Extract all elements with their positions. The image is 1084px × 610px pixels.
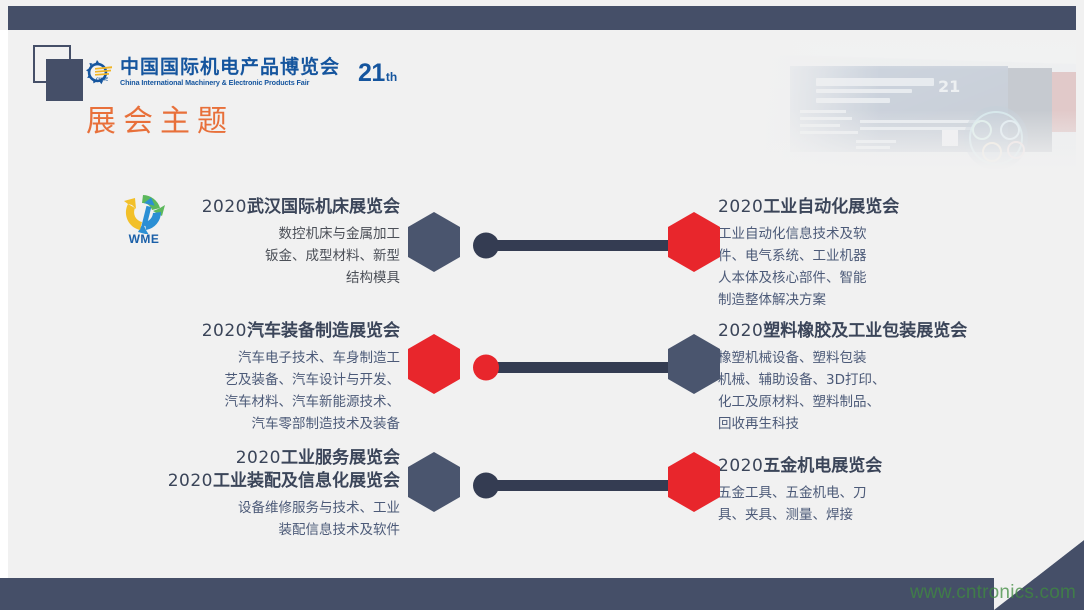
topic-year: 2020 [202,321,247,341]
topic-year: 2020 [236,448,281,468]
top-accent-bar [8,6,1076,30]
connector-2 [400,326,720,411]
topic-year: 2020 [202,197,247,217]
dot-left-1 [473,233,499,259]
gear-icon: CIMIE [84,58,114,88]
edition-suffix: th [386,70,397,84]
site-watermark: www.cntronics.com [910,582,1076,604]
topic-year: 2020 [718,197,763,217]
brand-lockup: CIMIE 中国国际机电产品博览会 China International Ma… [84,56,397,90]
topic-name: 塑料橡胶及工业包装展览会 [763,321,967,341]
topic-body-3-right: 五金工具、五金机电、刀 具、夹具、测量、焊接 [718,483,1038,527]
dot-left-3 [473,473,499,499]
slide-root: 21 [0,0,1084,610]
topic-name: 五金机电展览会 [763,456,882,476]
edition-number: 21 [358,59,385,88]
hexagon-right-2 [668,334,720,394]
edition-badge: 21 th [358,59,397,88]
topic-title-3-right: 2020五金机电展览会 [718,455,1038,478]
topic-title-2-left: 2020汽车装备制造展览会 [90,320,400,343]
wme-logo-label: WME [118,232,170,246]
brand-name-en: China International Machinery & Electron… [120,79,340,88]
topic-year: 2020 [718,456,763,476]
page-title: 展会主题 [86,96,234,140]
topic-body-2-right: 橡塑机械设备、塑料包装 机械、辅助设备、3D打印、 化工及原材料、塑料制品、 回… [718,348,1038,435]
topic-left-3: 2020工业服务展览会 2020工业装配及信息化展览会 设备维修服务与技术、工业… [90,447,400,542]
topic-title-3-left-a: 2020工业服务展览会 [90,447,400,470]
topic-right-2: 2020塑料橡胶及工业包装展览会 橡塑机械设备、塑料包装 机械、辅助设备、3D打… [718,320,1038,435]
hexagon-left-2 [408,334,460,394]
topic-right-1: 2020工业自动化展览会 工业自动化信息技术及软 件、电气系统、工业机器 人本体… [718,196,1038,311]
topic-title-3-left-b: 2020工业装配及信息化展览会 [90,470,400,493]
dot-left-2 [473,355,499,381]
hexagon-right-1 [668,212,720,272]
connector-1 [400,204,720,289]
hero-photo: 21 [760,30,1076,170]
topic-name: 工业自动化展览会 [763,197,899,217]
topic-year: 2020 [718,321,763,341]
topic-name: 工业装配及信息化展览会 [213,471,400,491]
wme-logo: WME [118,190,170,246]
topic-name: 工业服务展览会 [281,448,400,468]
topic-body-3-left: 设备维修服务与技术、工业 装配信息技术及软件 [90,498,400,542]
topic-title-2-right: 2020塑料橡胶及工业包装展览会 [718,320,1038,343]
header-square-solid [46,59,83,101]
left-white-edge [0,30,8,578]
topic-title-1-right: 2020工业自动化展览会 [718,196,1038,219]
topic-body-2-left: 汽车电子技术、车身制造工 艺及装备、汽车设计与开发、 汽车材料、汽车新能源技术、… [90,348,400,435]
hexagon-left-3 [408,452,460,512]
topic-body-1-right: 工业自动化信息技术及软 件、电气系统、工业机器 人本体及核心部件、智能 制造整体… [718,224,1038,311]
topic-name: 汽车装备制造展览会 [247,321,400,341]
topic-year: 2020 [168,471,213,491]
brand-name-cn: 中国国际机电产品博览会 [120,58,340,78]
hexagon-right-3 [668,452,720,512]
svg-text:CIMIE: CIMIE [96,77,108,82]
topic-left-2: 2020汽车装备制造展览会 汽车电子技术、车身制造工 艺及装备、汽车设计与开发、… [90,320,400,435]
connector-3 [400,444,720,529]
topic-right-3: 2020五金机电展览会 五金工具、五金机电、刀 具、夹具、测量、焊接 [718,455,1038,527]
topic-name: 武汉国际机床展览会 [247,197,400,217]
hexagon-left-1 [408,212,460,272]
